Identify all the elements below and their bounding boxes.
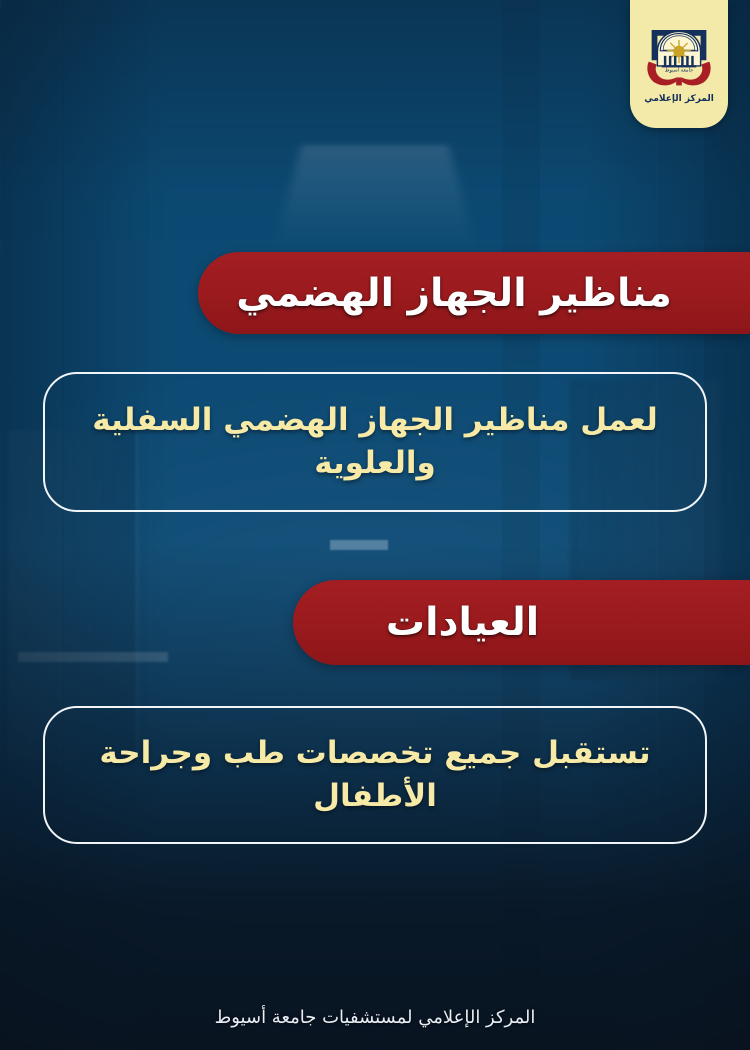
poster-root: جامعة أسيوط المركز الإعلامي مناظير الجها…: [0, 0, 750, 1050]
logo-badge: جامعة أسيوط المركز الإعلامي: [630, 0, 728, 128]
clinics-banner-text: العيادات: [386, 600, 539, 645]
university-emblem-icon: جامعة أسيوط: [643, 14, 715, 92]
background-vignette: [0, 0, 750, 1050]
footer-text: المركز الإعلامي لمستشفيات جامعة أسيوط: [215, 1007, 536, 1028]
endoscopy-info-text: لعمل مناظير الجهاز الهضمي السفلية والعلو…: [71, 399, 679, 485]
emblem-inner-text: جامعة أسيوط: [665, 67, 693, 74]
pediatrics-info-text: تستقبل جميع تخصصات طب وجراحة الأطفال: [71, 732, 679, 818]
logo-caption: المركز الإعلامي: [644, 94, 714, 104]
footer: المركز الإعلامي لمستشفيات جامعة أسيوط: [0, 1007, 750, 1028]
endoscopy-info-box: لعمل مناظير الجهاز الهضمي السفلية والعلو…: [43, 372, 707, 512]
clinics-banner: العيادات: [293, 580, 750, 665]
title-banner-text: مناظير الجهاز الهضمي: [236, 271, 672, 316]
title-banner: مناظير الجهاز الهضمي: [198, 252, 750, 334]
pediatrics-info-box: تستقبل جميع تخصصات طب وجراحة الأطفال: [43, 706, 707, 844]
